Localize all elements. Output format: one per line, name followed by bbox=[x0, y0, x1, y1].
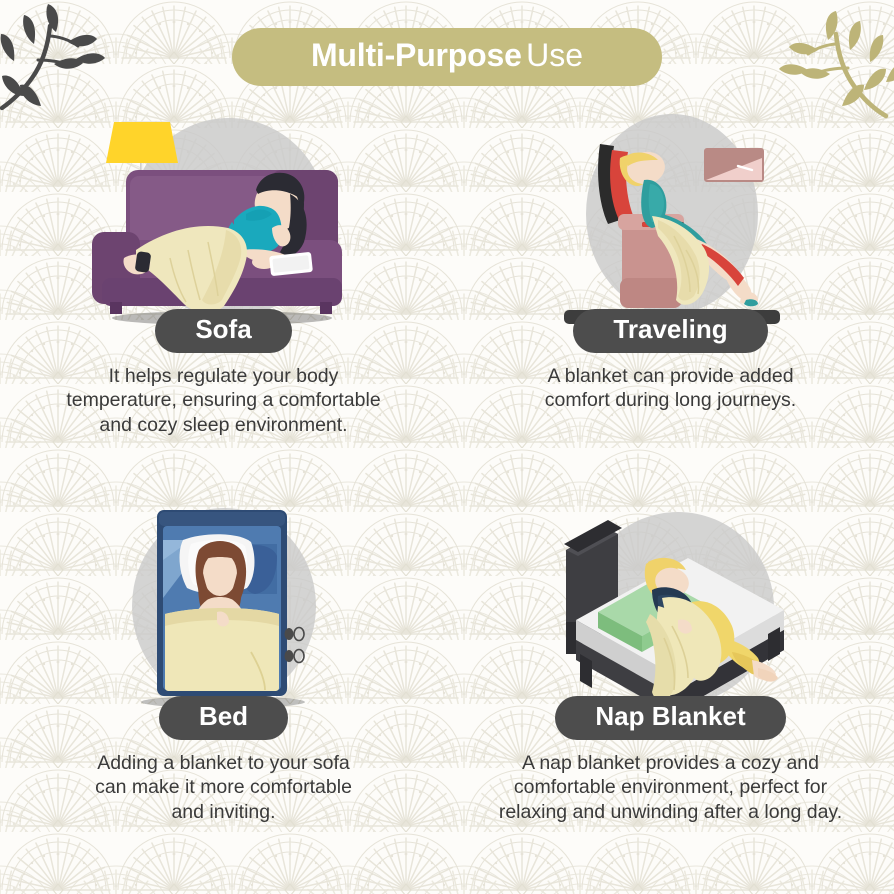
card-description-nap-blanket: A nap blanket provides a cozy and comfor… bbox=[499, 751, 842, 826]
nap-illustration-wrap bbox=[447, 502, 894, 712]
card-description-bed: Adding a blanket to your sofa can make i… bbox=[95, 751, 352, 826]
card-nap-blanket: Nap Blanket A nap blanket provides a coz… bbox=[447, 502, 894, 894]
cards-grid: Sofa It helps regulate your body tempera… bbox=[0, 110, 894, 894]
bed-illustration bbox=[99, 502, 349, 712]
page-title-strong: Multi-Purpose bbox=[311, 37, 522, 73]
card-label-nap-blanket: Nap Blanket bbox=[555, 696, 785, 740]
card-bed: Bed Adding a blanket to your sofa can ma… bbox=[0, 502, 447, 894]
card-label-bed: Bed bbox=[159, 696, 288, 740]
card-description-traveling: A blanket can provide added comfort duri… bbox=[545, 364, 796, 414]
sofa-illustration bbox=[74, 110, 374, 325]
card-sofa: Sofa It helps regulate your body tempera… bbox=[0, 110, 447, 502]
bed-illustration-wrap bbox=[0, 502, 447, 712]
page-title-pill: Multi-Purpose Use bbox=[232, 28, 662, 86]
card-label-traveling: Traveling bbox=[573, 309, 767, 353]
page-title-light: Use bbox=[526, 37, 583, 73]
nap-blanket-illustration bbox=[536, 502, 806, 712]
sofa-illustration-wrap bbox=[0, 110, 447, 325]
card-label-sofa: Sofa bbox=[155, 309, 291, 353]
card-description-sofa: It helps regulate your body temperature,… bbox=[66, 364, 380, 439]
traveling-illustration bbox=[546, 110, 796, 325]
leaf-branch-icon bbox=[772, 10, 894, 144]
leaf-branch-icon bbox=[0, 4, 114, 134]
card-traveling: Traveling A blanket can provide added co… bbox=[447, 110, 894, 502]
